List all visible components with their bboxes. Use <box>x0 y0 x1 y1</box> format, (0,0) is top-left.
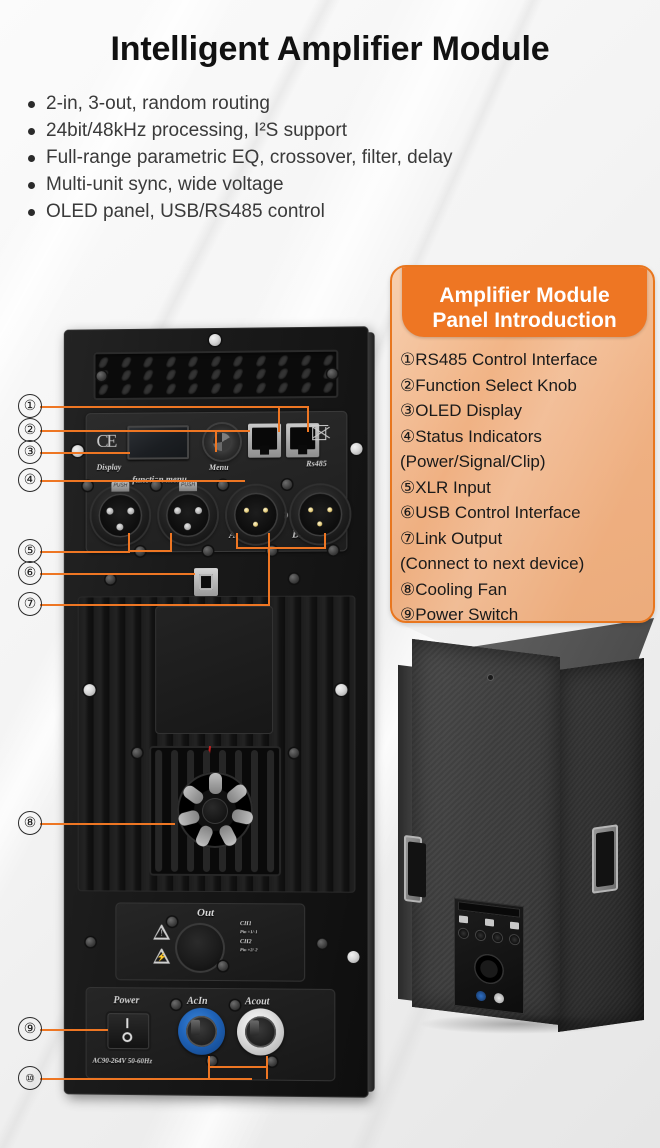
callout-marker-4: ④ <box>18 468 42 492</box>
ch2-pins: Pin +2/-2 <box>240 947 257 952</box>
leader-line-1c <box>307 406 309 432</box>
legend-title-line1: Amplifier Module <box>439 283 609 308</box>
acin-label: AcIn <box>187 996 208 1007</box>
screw <box>289 574 299 584</box>
callout-marker-9: ⑨ <box>18 1017 42 1041</box>
cabinet-shadow <box>418 1014 618 1034</box>
out-label: Out <box>197 907 214 919</box>
warning-triangle-icon: ! <box>153 925 170 940</box>
screw <box>105 574 115 584</box>
acout-label: Acout <box>245 996 269 1007</box>
cabinet-module-xlr-row <box>459 928 519 944</box>
screw <box>282 479 292 489</box>
ch1-label: CH1 <box>240 921 252 927</box>
callout-marker-7: ⑦ <box>18 592 42 616</box>
cabinet-module-xlr <box>493 932 502 942</box>
feature-item: OLED panel, USB/RS485 control <box>22 198 442 225</box>
legend-title-line2: Panel Introduction <box>432 308 616 333</box>
leader-line-10d <box>208 1066 268 1068</box>
heatsink-center-panel <box>155 606 273 734</box>
leader-line-5 <box>40 551 130 553</box>
power-label: Power <box>113 995 139 1006</box>
cabinet-module-rj45 <box>485 918 494 926</box>
screw <box>132 748 142 758</box>
cooling-fan <box>149 746 281 876</box>
callout-marker-2: ② <box>18 418 42 442</box>
callout-marker-10: ⑩ <box>18 1066 42 1090</box>
callout-marker-1: ① <box>18 394 42 418</box>
ac-out-connector[interactable] <box>237 1008 284 1056</box>
switch-on-mark <box>126 1018 128 1028</box>
module-plate-edge <box>368 332 375 1092</box>
speaker-cabinet-photo <box>392 630 660 1050</box>
shock-hazard-icon: ⚡ <box>153 949 170 964</box>
legend-item: ⑨Power Switch <box>400 602 647 623</box>
feature-item: Multi-unit sync, wide voltage <box>22 171 442 198</box>
speaker-output-bay: Out ! ⚡ CH1 Pin +1/-1 CH2 Pin +2/-2 <box>115 902 305 981</box>
power-switch[interactable] <box>107 1013 149 1049</box>
cabinet-mount-point <box>488 675 493 680</box>
cabinet-module-xlr <box>510 935 519 945</box>
screw <box>84 684 96 696</box>
leader-line-4 <box>40 480 245 482</box>
legend-item: ⑤XLR Input <box>400 475 647 501</box>
legend-header: Amplifier Module Panel Introduction <box>402 265 647 337</box>
display-label: Display <box>97 463 122 472</box>
feature-item: 24bit/48kHz processing, I²S support <box>22 117 442 144</box>
feature-item: Full-range parametric EQ, crossover, fil… <box>22 144 442 171</box>
legend-item: ⑦Link Output <box>400 526 647 552</box>
leader-line-7b <box>268 533 270 605</box>
ch1-pins: Pin +1/-1 <box>240 929 257 934</box>
leader-line-2b <box>215 430 217 452</box>
rj45-link-jack-a[interactable] <box>248 423 281 457</box>
switch-off-mark <box>122 1032 132 1042</box>
ch2-label: CH2 <box>240 939 252 945</box>
xlr-link-output-b[interactable] <box>291 485 349 544</box>
cabinet-handle-right <box>592 824 618 894</box>
screw <box>267 1057 277 1067</box>
leader-line-1 <box>40 406 280 408</box>
ce-mark-icon: CE <box>97 433 123 450</box>
leader-line-1b <box>278 406 280 432</box>
legend-item: ②Function Select Knob <box>400 373 647 399</box>
feature-list: 2-in, 3-out, random routing 24bit/48kHz … <box>22 90 442 225</box>
legend-item: ④Status Indicators <box>400 424 647 450</box>
screw <box>218 961 228 971</box>
legend-item: ⑥USB Control Interface <box>400 500 647 526</box>
page-title: Intelligent Amplifier Module <box>0 30 660 69</box>
legend-item: ⑧Cooling Fan <box>400 577 647 603</box>
cabinet-module-top-row <box>459 914 519 930</box>
cabinet-module-acin <box>476 990 486 1001</box>
cabinet-module-xlr <box>459 928 468 938</box>
leader-line-2 <box>40 430 250 432</box>
leader-line-7e <box>324 533 326 548</box>
xlr-ring <box>99 493 143 537</box>
screw <box>86 937 96 947</box>
xlr-push-latch: PUSH <box>111 481 129 492</box>
leader-line-6 <box>40 573 195 575</box>
screw <box>171 1000 181 1010</box>
leader-line-7c <box>236 547 326 549</box>
xlr-input-a[interactable]: PUSH <box>92 486 150 544</box>
xlr-input-b[interactable]: PUSH <box>159 486 217 544</box>
cabinet-module-fan <box>474 952 504 986</box>
fan-cap <box>202 798 228 824</box>
screw <box>350 443 362 455</box>
xlr-ring <box>298 492 342 536</box>
leader-line-7d <box>236 533 238 548</box>
cabinet-module-acout <box>494 993 504 1004</box>
screw <box>97 371 107 381</box>
leader-line-7 <box>40 604 270 606</box>
legend-item: (Connect to next device) <box>400 551 647 577</box>
rs485-label: Rs485 <box>306 459 327 468</box>
screw <box>83 481 93 491</box>
leader-line-9 <box>40 1029 108 1031</box>
screw <box>203 546 213 556</box>
legend-item-list: ①RS485 Control Interface ②Function Selec… <box>400 347 647 623</box>
callout-marker-5: ⑤ <box>18 539 42 563</box>
leader-line-5d <box>128 550 172 552</box>
ac-in-connector[interactable] <box>178 1008 225 1055</box>
top-vent-grille <box>94 350 339 400</box>
screw <box>335 684 347 696</box>
screw <box>317 939 327 949</box>
legend-item: ③OLED Display <box>400 398 647 424</box>
screw <box>347 951 359 963</box>
callout-marker-3: ③ <box>18 440 42 464</box>
cabinet-module-xlr <box>476 930 485 940</box>
callout-marker-6: ⑥ <box>18 561 42 585</box>
legend-item: (Power/Signal/Clip) <box>400 449 647 475</box>
leader-line-1d <box>278 406 309 408</box>
leader-line-10 <box>40 1078 252 1080</box>
menu-label: Menu <box>209 463 229 472</box>
cabinet-module-rj45 <box>510 922 519 930</box>
screw <box>328 545 338 555</box>
cabinet-module-rj45 <box>459 915 468 923</box>
legend-item: ①RS485 Control Interface <box>400 347 647 373</box>
leader-line-8 <box>40 823 175 825</box>
cabinet-amp-module <box>454 898 524 1015</box>
leader-line-3 <box>40 452 130 454</box>
callout-marker-8: ⑧ <box>18 811 42 835</box>
screw <box>167 917 177 927</box>
screw <box>230 1000 240 1010</box>
usb-control-port[interactable] <box>194 568 218 596</box>
xlr-ring <box>234 493 278 537</box>
screw <box>209 334 221 346</box>
cabinet-handle-left <box>404 835 422 903</box>
panel-introduction-box: Amplifier Module Panel Introduction ①RS4… <box>390 265 655 623</box>
feature-item: 2-in, 3-out, random routing <box>22 90 442 117</box>
screw <box>289 748 299 758</box>
screw <box>327 369 337 379</box>
heatsink-body <box>78 596 356 893</box>
voltage-rating-label: AC90-264V 50-60Hz <box>93 1057 153 1066</box>
xlr-ring <box>166 493 210 537</box>
weee-disposal-icon <box>310 425 328 449</box>
